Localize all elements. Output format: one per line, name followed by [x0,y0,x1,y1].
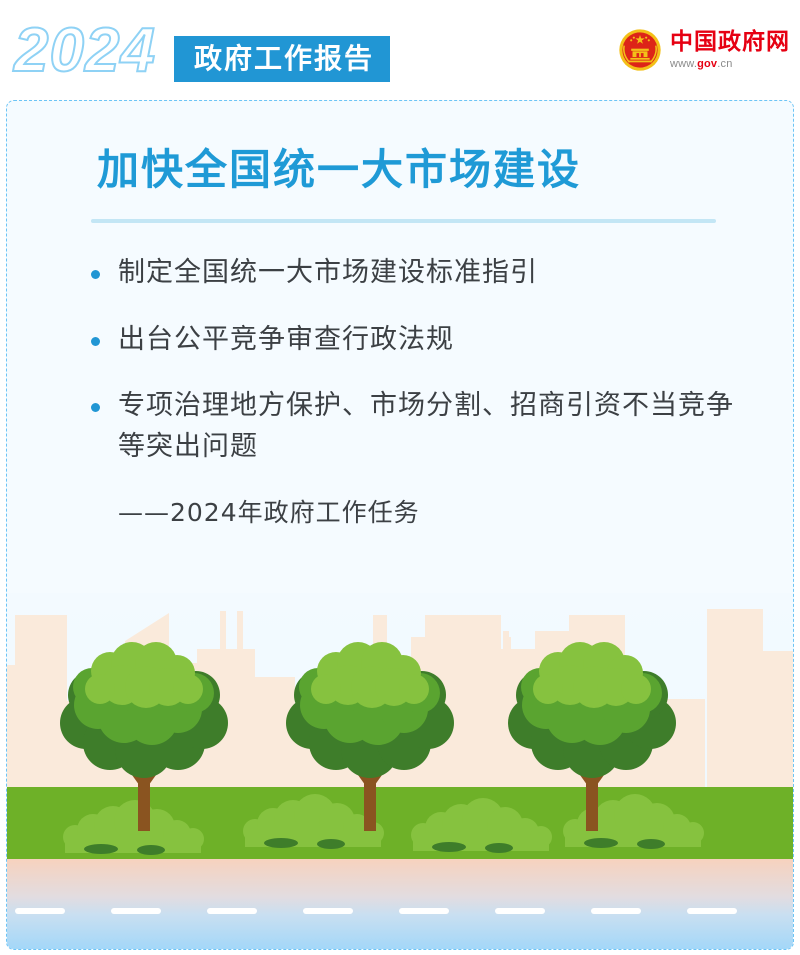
list-item: 制定全国统一大市场建设标准指引 [7,253,793,294]
poster-page: 2024 政府工作报告 [0,0,800,955]
city-skyline-scene-svg [7,593,794,949]
gov-site-logo[interactable]: 中国政府网 www.gov.cn [618,28,790,72]
bush-group [63,794,704,855]
report-banner-label: 政府工作报告 [194,45,374,73]
gov-site-url: www.gov.cn [670,58,790,70]
gov-url-mid: gov [697,58,717,70]
list-item: 专项治理地方保护、市场分割、招商引资不当竞争等突出问题 [7,386,793,467]
lane-marker-group [15,908,737,914]
content-card: 加快全国统一大市场建设 制定全国统一大市场建设标准指引 出台公平竞争审查行政法规… [6,100,794,950]
title-divider [91,219,716,223]
city-skyline [7,609,794,789]
bullet-text: 专项治理地方保护、市场分割、招商引资不当竞争等突出问题 [118,386,741,467]
bullet-dot-icon [91,270,100,279]
china-national-emblem-icon [618,28,662,72]
year-2024-outline-text: 2024 [14,20,156,82]
gov-site-name: 中国政府网 [670,30,790,54]
sky-band [7,593,794,789]
gov-logo-text: 中国政府网 www.gov.cn [670,30,790,69]
header: 2024 政府工作报告 [0,0,800,100]
bullet-dot-icon [91,337,100,346]
list-item: 出台公平竞争审查行政法规 [7,320,793,361]
bullet-dot-icon [91,403,100,412]
road-band [7,859,794,949]
bullet-text: 制定全国统一大市场建设标准指引 [118,253,538,294]
gov-url-prefix: www. [670,58,697,70]
city-illustration [7,593,794,949]
source-attribution: ——2024年政府工作任务 [7,493,793,529]
grass-band [7,787,794,859]
gov-url-suffix: .cn [717,58,732,70]
card-content: 加快全国统一大市场建设 制定全国统一大市场建设标准指引 出台公平竞争审查行政法规… [7,101,793,529]
bullet-list: 制定全国统一大市场建设标准指引 出台公平竞争审查行政法规 专项治理地方保护、市场… [7,253,793,467]
bullet-text: 出台公平竞争审查行政法规 [118,320,454,361]
page-title: 加快全国统一大市场建设 [97,145,793,195]
report-banner: 政府工作报告 [174,36,390,82]
tree-group [60,642,676,831]
